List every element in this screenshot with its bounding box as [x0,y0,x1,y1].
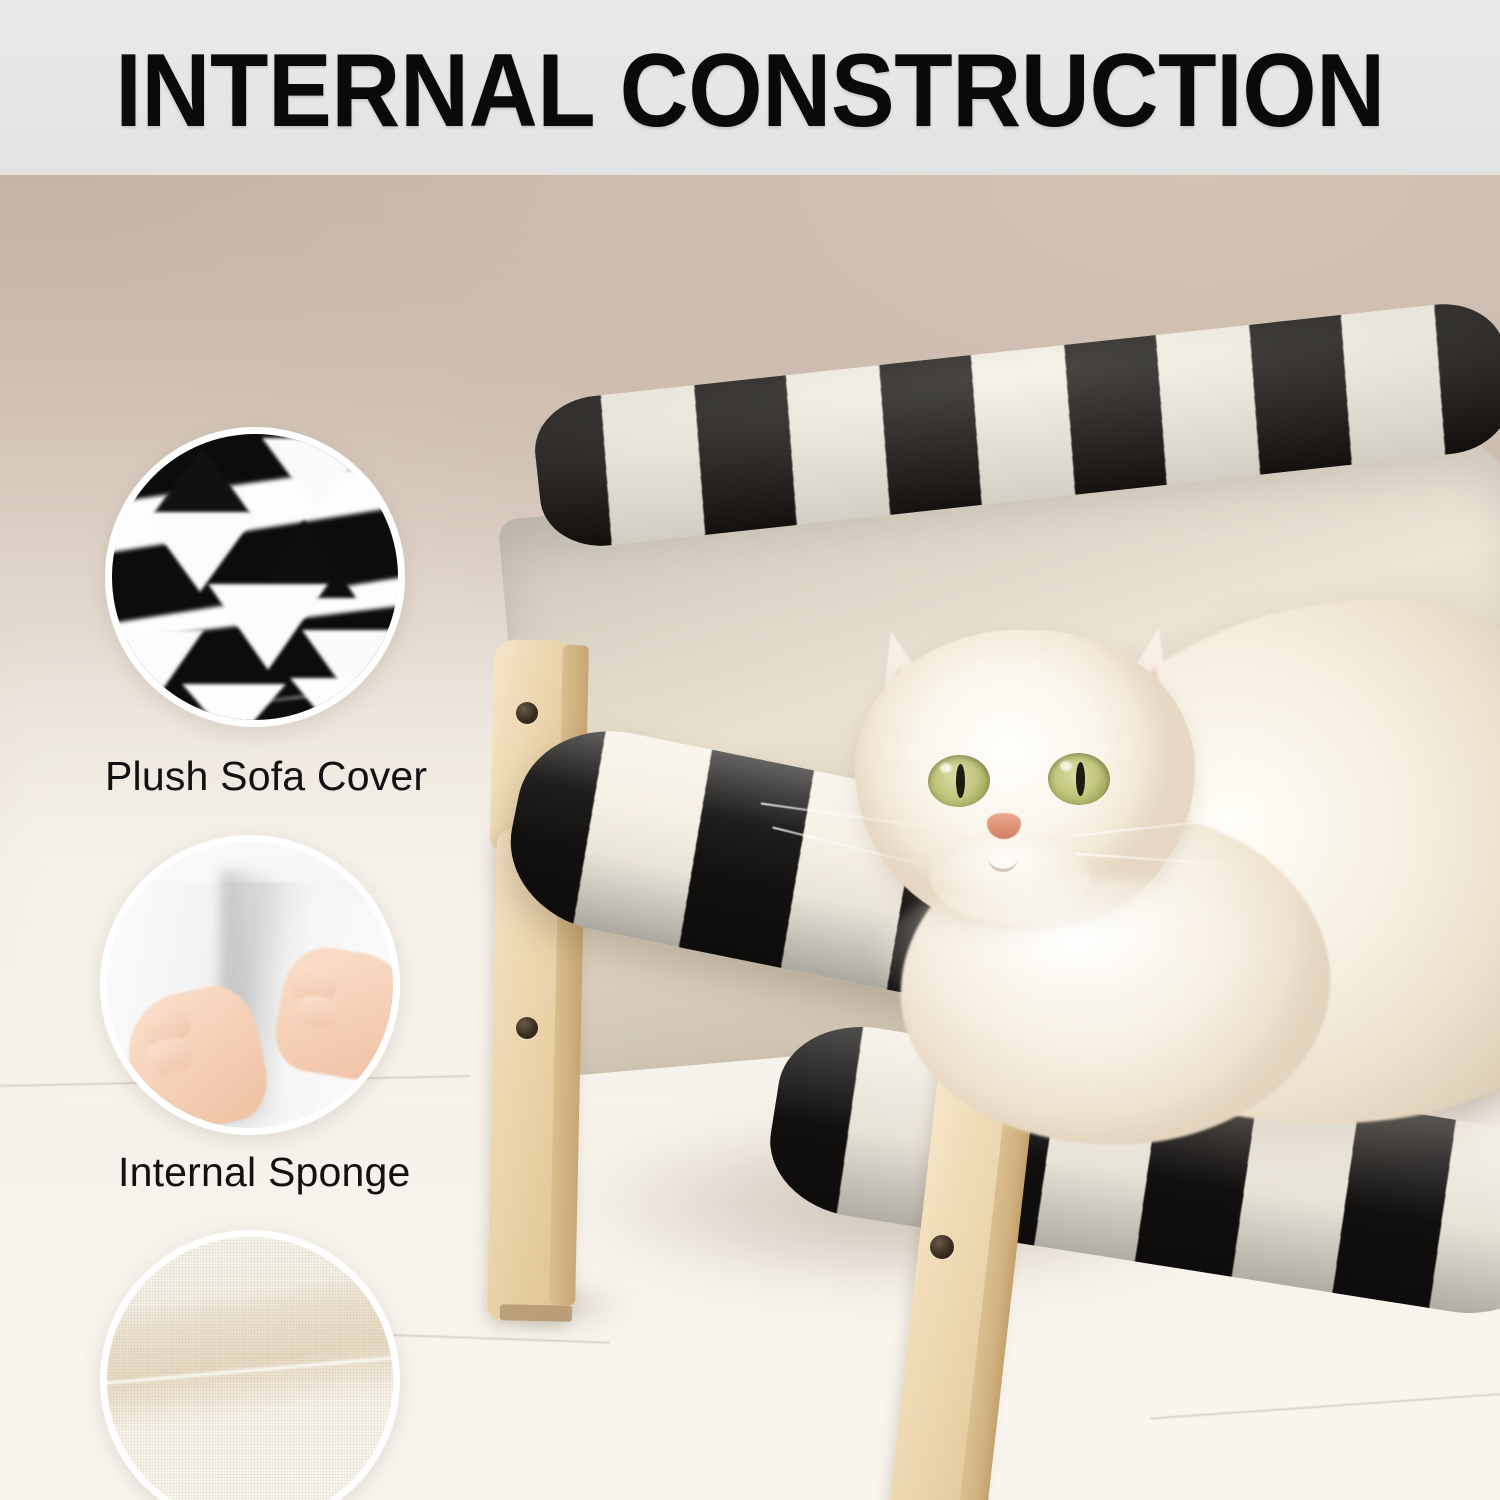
sponge-swatch [107,842,393,1128]
feature-label-internal-sponge: Internal Sponge [118,1147,411,1197]
infographic-canvas: INTERNAL CONSTRUCTION [0,0,1500,1500]
plush-triangle [290,678,386,720]
header-band: INTERNAL CONSTRUCTION [0,0,1500,175]
plush-triangle [262,438,372,512]
cat-pupil-left [956,764,965,798]
cat-pupil-right [1076,762,1085,796]
plush-triangle [152,446,252,516]
feature-label-plush-sofa-cover: Plush Sofa Cover [105,751,427,801]
oxford-fabric-swatch [107,1237,393,1500]
cat-mouth [988,843,1018,872]
plush-triangle [182,684,286,720]
cat-eye-glint-right [1060,761,1072,771]
feature-swatch-internal-sponge [100,835,400,1135]
product-photo: Plush Sofa Cover Internal Sponge Wear-re… [0,175,1500,1500]
feature-swatch-oxford-bottom [100,1230,400,1500]
plush-fabric-swatch [112,434,398,720]
page-title: INTERNAL CONSTRUCTION [60,0,1440,175]
feature-swatch-plush-sofa-cover [105,427,405,727]
cat-eye-glint-left [940,763,952,773]
plush-triangle [142,512,258,592]
cat-neck-fluff [860,875,1280,1075]
